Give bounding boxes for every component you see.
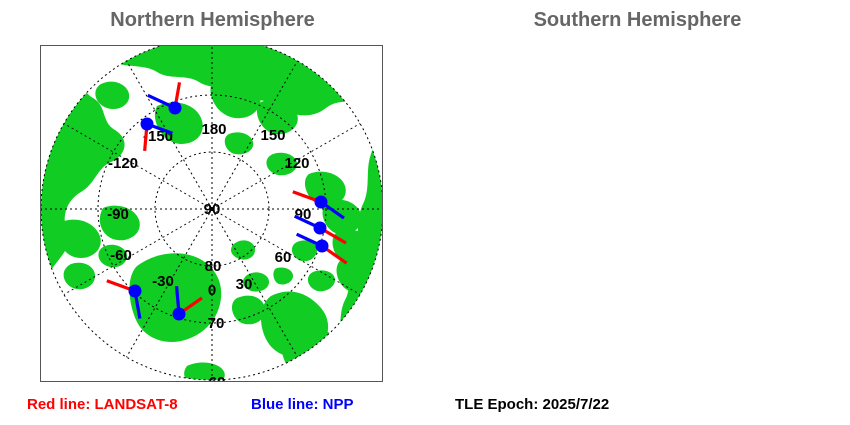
svg-text:-60: -60 [110, 247, 132, 264]
legend-landsat8: Red line: LANDSAT-8 [27, 396, 178, 413]
satellite-position-marker[interactable] [314, 222, 327, 235]
satellite-position-marker[interactable] [129, 285, 142, 298]
panel-southern-hemisphere: Southern Hemisphere [425, 0, 850, 425]
svg-text:-30: -30 [152, 273, 174, 290]
polar-map-north: 180 150 120 90 60 30 0 -30 -60 -90 -120 … [41, 46, 382, 381]
svg-text:70: 70 [208, 315, 225, 332]
legend-npp: Blue line: NPP [251, 396, 354, 413]
legend-tle-epoch: TLE Epoch: 2025/7/22 [455, 396, 609, 413]
satellite-position-marker[interactable] [169, 102, 182, 115]
svg-text:150: 150 [260, 127, 285, 144]
panel-title-south: Southern Hemisphere [425, 8, 850, 32]
svg-text:30: 30 [236, 276, 253, 293]
svg-text:-90: -90 [107, 206, 129, 223]
plot-frame-north: 180 150 120 90 60 30 0 -30 -60 -90 -120 … [40, 45, 383, 382]
svg-text:60: 60 [275, 249, 292, 266]
panel-title-north: Northern Hemisphere [0, 8, 425, 32]
svg-text:60: 60 [209, 374, 226, 381]
svg-text:90: 90 [204, 201, 221, 218]
satellite-position-marker[interactable] [316, 240, 329, 253]
svg-text:-120: -120 [108, 155, 138, 172]
svg-text:0: 0 [208, 282, 216, 299]
svg-text:80: 80 [205, 258, 222, 275]
satellite-position-marker[interactable] [173, 308, 186, 321]
svg-text:180: 180 [201, 121, 226, 138]
svg-text:120: 120 [284, 155, 309, 172]
satellite-position-marker[interactable] [315, 196, 328, 209]
satellite-position-marker[interactable] [141, 118, 154, 131]
panel-northern-hemisphere: Northern Hemisphere [0, 0, 425, 425]
